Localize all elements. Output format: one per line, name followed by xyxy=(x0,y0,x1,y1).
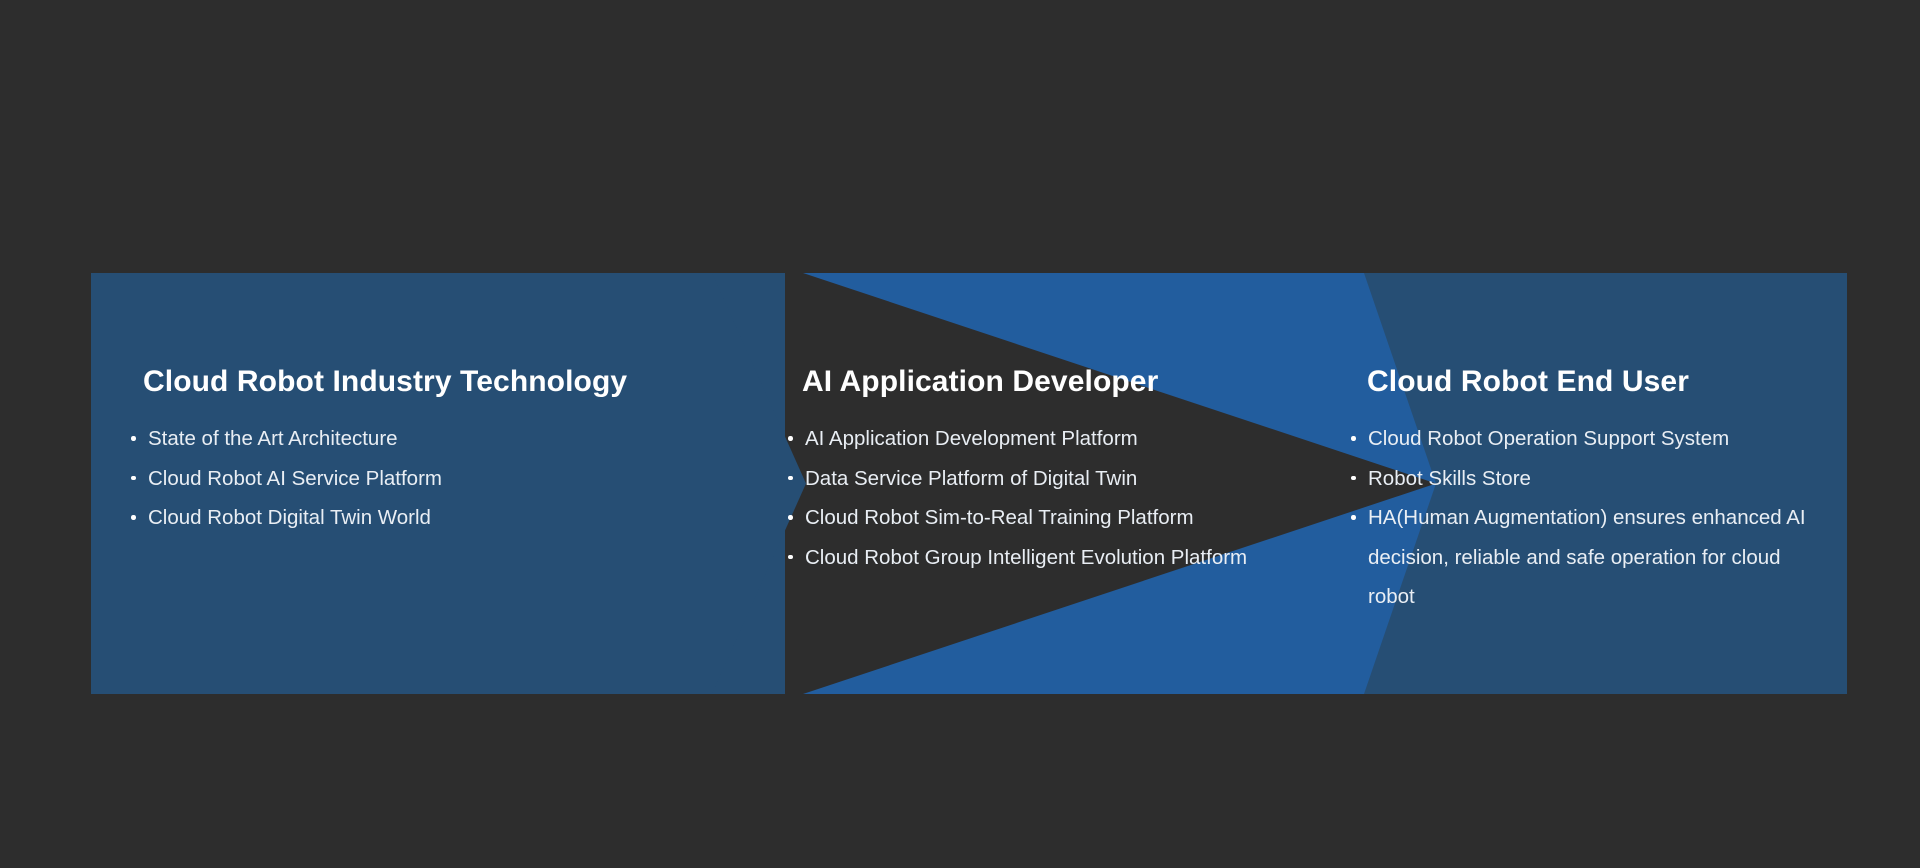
list-item-label: HA(Human Augmentation) ensures enhanced … xyxy=(1368,506,1806,608)
bullet-dot-icon xyxy=(788,555,793,560)
column-title-cloud-robot-end-user: Cloud Robot End User xyxy=(1367,367,1689,397)
list-item-label: Cloud Robot Sim-to-Real Training Platfor… xyxy=(805,506,1194,529)
list-item: Cloud Robot Operation Support System xyxy=(1348,419,1823,459)
bullet-dot-icon xyxy=(131,515,136,520)
bullet-dot-icon xyxy=(131,476,136,481)
bullet-dot-icon xyxy=(1351,515,1356,520)
list-item: State of the Art Architecture xyxy=(128,419,608,459)
bullet-list-cloud-robot-end-user: Cloud Robot Operation Support System Rob… xyxy=(1348,419,1823,617)
bullet-dot-icon xyxy=(131,436,136,441)
list-item-label: Cloud Robot Group Intelligent Evolution … xyxy=(805,546,1247,569)
bullet-dot-icon xyxy=(788,515,793,520)
list-item: Data Service Platform of Digital Twin xyxy=(785,459,1305,499)
list-item-label: Robot Skills Store xyxy=(1368,467,1531,490)
bullet-list-ai-application-developer: AI Application Development Platform Data… xyxy=(785,419,1305,577)
list-item: Cloud Robot Digital Twin World xyxy=(128,498,608,538)
slide-canvas: Cloud Robot Industry Technology State of… xyxy=(0,0,1920,868)
list-item: HA(Human Augmentation) ensures enhanced … xyxy=(1348,498,1823,617)
list-item-label: Cloud Robot AI Service Platform xyxy=(148,467,442,490)
list-item: AI Application Development Platform xyxy=(785,419,1305,459)
list-item-label: Cloud Robot Operation Support System xyxy=(1368,427,1729,450)
list-item: Cloud Robot Sim-to-Real Training Platfor… xyxy=(785,498,1305,538)
bullet-dot-icon xyxy=(788,476,793,481)
list-item-label: Cloud Robot Digital Twin World xyxy=(148,506,431,529)
list-item: Cloud Robot AI Service Platform xyxy=(128,459,608,499)
list-item: Cloud Robot Group Intelligent Evolution … xyxy=(785,538,1305,578)
column-title-industry-technology: Cloud Robot Industry Technology xyxy=(143,367,627,397)
bullet-list-industry-technology: State of the Art Architecture Cloud Robo… xyxy=(128,419,608,538)
bullet-dot-icon xyxy=(1351,436,1356,441)
list-item-label: Data Service Platform of Digital Twin xyxy=(805,467,1137,490)
list-item-label: State of the Art Architecture xyxy=(148,427,398,450)
column-title-ai-application-developer: AI Application Developer xyxy=(802,367,1158,397)
bullet-dot-icon xyxy=(788,436,793,441)
bullet-dot-icon xyxy=(1351,476,1356,481)
list-item-label: AI Application Development Platform xyxy=(805,427,1138,450)
list-item: Robot Skills Store xyxy=(1348,459,1823,499)
